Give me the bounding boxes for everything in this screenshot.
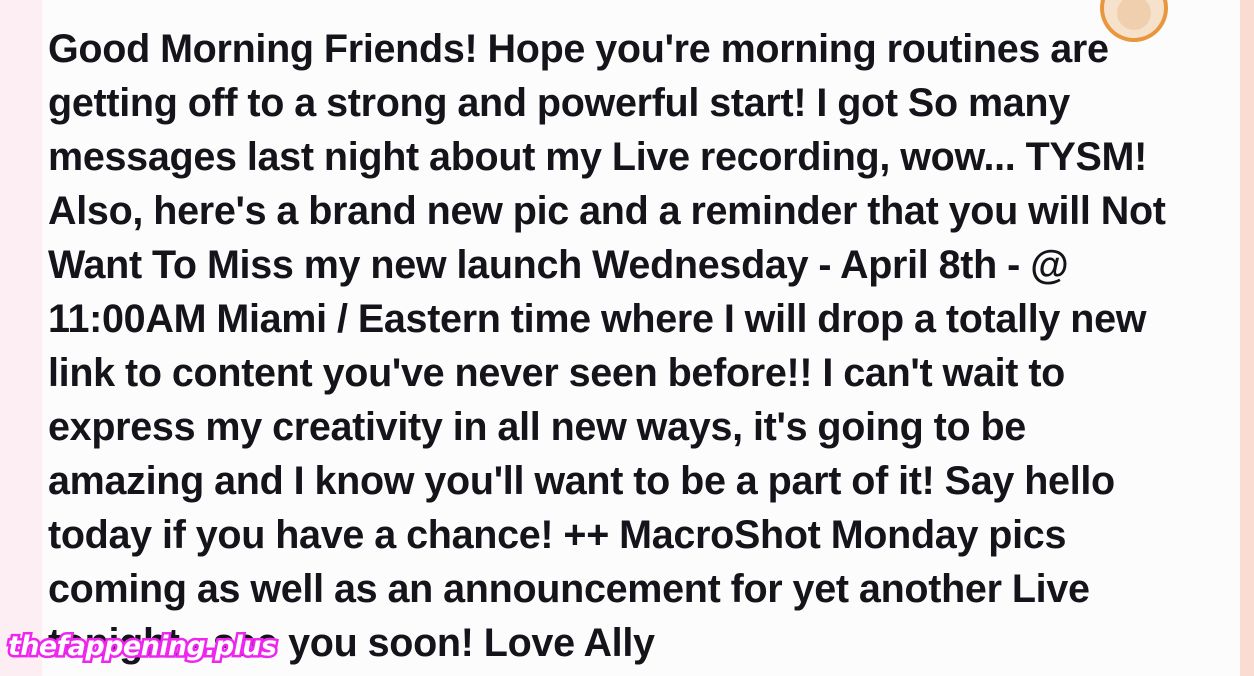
post-caption-text: Good Morning Friends! Hope you're mornin… [48, 22, 1168, 670]
avatar[interactable] [1100, 0, 1168, 42]
post-screenshot: Good Morning Friends! Hope you're mornin… [0, 0, 1254, 676]
page-gutter-right [1240, 0, 1254, 676]
site-watermark: thefappening.plus [8, 632, 276, 662]
page-gutter-left [0, 0, 42, 676]
avatar-face [1117, 0, 1151, 30]
